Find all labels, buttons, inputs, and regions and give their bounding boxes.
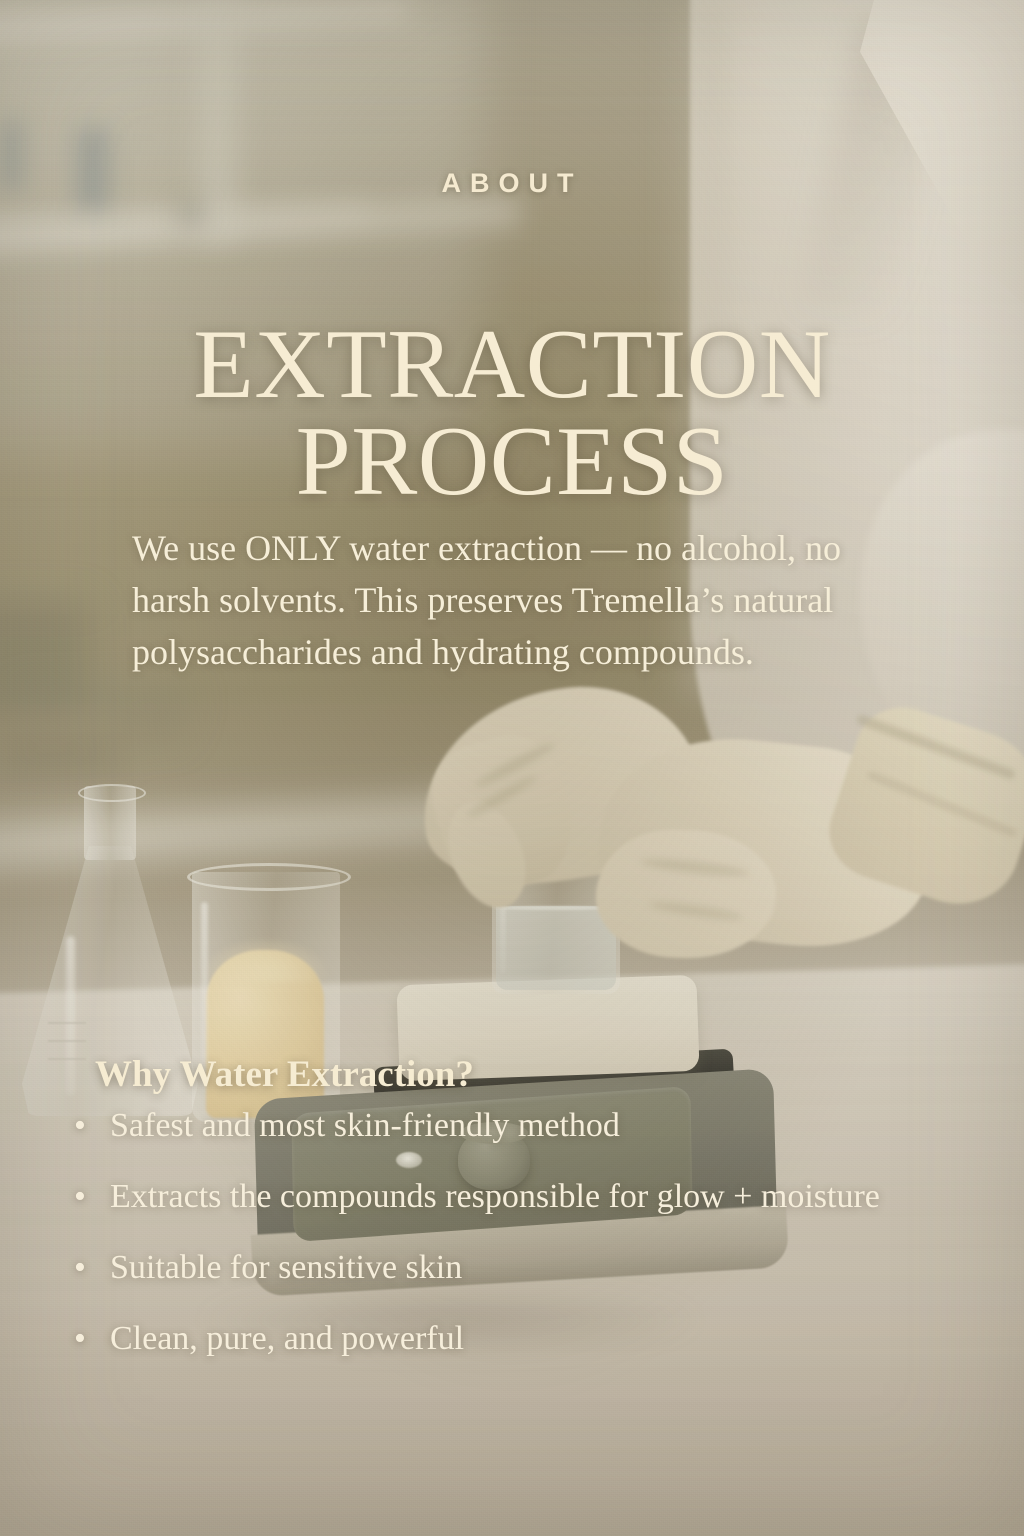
list-item-label: Suitable for sensitive skin bbox=[110, 1249, 462, 1286]
bullet-icon: • bbox=[74, 1317, 86, 1362]
list-item: • Clean, pure, and powerful bbox=[68, 1317, 898, 1362]
list-item-label: Safest and most skin-friendly method bbox=[110, 1107, 620, 1144]
headline-line-2: PROCESS bbox=[0, 413, 1024, 510]
list-item: • Safest and most skin-friendly method bbox=[68, 1104, 898, 1149]
bullet-icon: • bbox=[74, 1104, 86, 1149]
bullet-icon: • bbox=[74, 1246, 86, 1291]
eyebrow-label: ABOUT bbox=[0, 168, 1024, 199]
intro-paragraph: We use ONLY water extraction — no alcoho… bbox=[132, 522, 892, 679]
section-subtitle: Why Water Extraction? bbox=[95, 1053, 474, 1096]
poster-content: ABOUT EXTRACTION PROCESS We use ONLY wat… bbox=[0, 0, 1024, 1536]
list-item-label: Extracts the compounds responsible for g… bbox=[110, 1178, 880, 1215]
list-item: • Extracts the compounds responsible for… bbox=[68, 1175, 898, 1220]
bullet-icon: • bbox=[74, 1175, 86, 1220]
page-title: EXTRACTION PROCESS bbox=[0, 316, 1024, 510]
list-item-label: Clean, pure, and powerful bbox=[110, 1320, 464, 1357]
poster-canvas: ABOUT EXTRACTION PROCESS We use ONLY wat… bbox=[0, 0, 1024, 1536]
list-item: • Suitable for sensitive skin bbox=[68, 1246, 898, 1291]
headline-line-1: EXTRACTION bbox=[193, 310, 830, 419]
benefits-list: • Safest and most skin-friendly method •… bbox=[68, 1104, 898, 1388]
